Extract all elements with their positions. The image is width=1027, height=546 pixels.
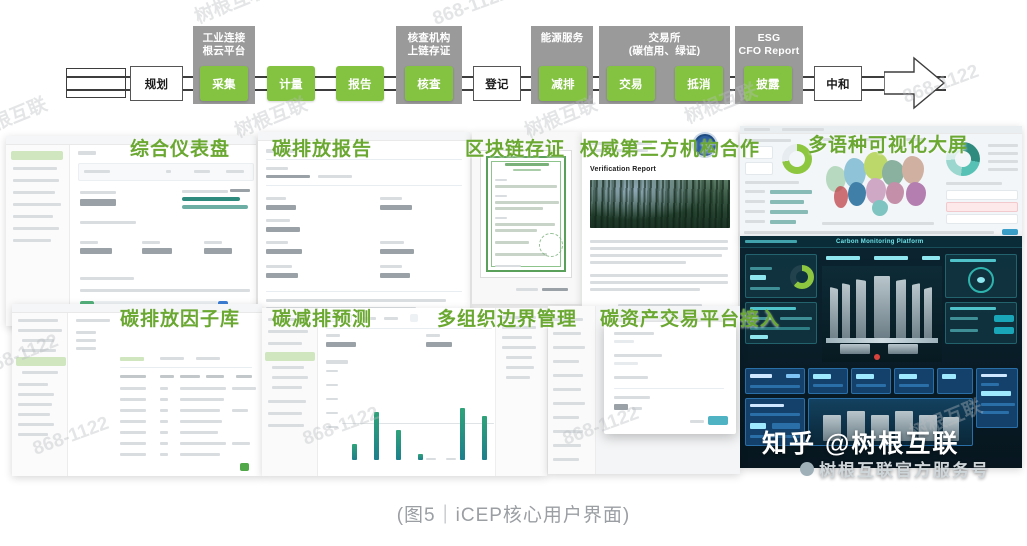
dialog-field-label [614,354,662,357]
sidebar-subitem[interactable] [22,349,56,352]
org-node[interactable] [553,402,585,405]
cap-dashboard: 综合仪表盘 [130,134,230,161]
certificate-subheading [513,169,541,171]
kpi-card [745,162,773,175]
list-label [745,210,765,213]
table-row[interactable] [180,398,224,401]
org-tree-sidebar[interactable] [548,306,596,474]
table-header-cell [206,375,224,378]
table-row[interactable] [180,420,222,423]
sidebar-item-active[interactable] [265,352,315,361]
field-label [266,167,288,170]
list-bar [770,200,804,204]
footer-badge [1002,229,1018,235]
paragraph-line [590,261,686,264]
y-axis-tick [326,426,338,428]
kpi-label [80,191,116,194]
org-node[interactable] [553,430,583,433]
org-node[interactable] [553,332,581,335]
divider [266,185,462,186]
machine-block [840,344,870,354]
paragraph-line [590,288,700,291]
map-region [848,182,866,206]
cap-multi-org: 多组织边界管理 [437,304,577,331]
machine-column [830,287,838,343]
filter-subitem[interactable] [506,366,534,369]
tab-active[interactable] [120,357,144,361]
table-row[interactable] [160,398,168,401]
shot-comprehensive-dashboard[interactable] [6,136,256,326]
confirm-button[interactable] [708,416,728,425]
map-region [872,200,888,216]
sidebar-item[interactable] [18,433,48,436]
table-row[interactable] [120,398,146,401]
sidebar-item[interactable] [18,383,48,386]
machine-column [896,279,906,341]
cap-emission-report: 碳排放报告 [272,134,372,161]
flow-arrow-head [884,56,946,110]
cap-asset-trading: 碳资产交易平台接入 [600,304,780,331]
card-label [856,384,886,387]
card-value [813,374,831,379]
panel-title [950,307,996,310]
alert-row[interactable] [946,190,1018,200]
org-node[interactable] [553,388,581,391]
cert-field-value [495,241,529,244]
shot-multi-org-boundary[interactable] [548,306,740,474]
table-row[interactable] [160,431,168,434]
left-kpi-panel [745,254,817,298]
legend [230,189,250,192]
sidebar-item[interactable] [13,215,53,218]
cap-forecast: 碳减排预测 [272,304,372,331]
cap-blockchain: 区块链存证 [465,134,565,161]
card-row [981,411,1009,414]
bottom-card[interactable] [894,368,934,394]
card-title [750,374,772,378]
table-row[interactable] [160,442,168,445]
field-value [380,273,410,278]
filter-label [166,170,171,173]
stat-value [80,248,112,254]
filter-label [76,331,96,334]
panel-title [950,259,996,262]
figure-caption: (图5｜iCEP核心用户界面) [0,500,1027,527]
breadcrumb [76,319,110,322]
table-row [988,152,1018,155]
field-value [266,175,310,178]
certificate-stamp-icon [539,233,563,257]
cert-field-value [495,229,537,232]
pagination-current[interactable] [240,463,249,471]
band-label: 能源服务 [541,32,584,45]
progress-bar [182,205,248,209]
table-row [988,160,1018,163]
table-header-cell [236,375,252,378]
alert-row-critical[interactable] [946,202,1018,212]
card-row [981,383,999,386]
sidebar-item[interactable] [13,191,55,194]
right-kpi-panel [945,254,1017,298]
org-node[interactable] [553,458,579,461]
forecast-panel [318,308,495,476]
table-row[interactable] [160,420,168,423]
table-row[interactable] [180,387,226,390]
machine-column [856,279,866,341]
filter-label [226,170,244,173]
filter-label [76,339,96,342]
field-label [266,197,286,200]
machine-column [924,287,932,343]
sidebar-item[interactable] [268,424,304,427]
machine-block [888,344,918,354]
field-value [266,205,296,210]
band-label: 核查机构 上链存证 [408,32,451,58]
card-title [750,404,784,407]
section-title [80,221,136,224]
card-value [942,374,956,379]
node-measure[interactable]: 计量 [267,66,315,101]
shot-reduction-forecast[interactable] [262,308,547,476]
paragraph-line [590,274,728,277]
zhihu-service-account: 树根互联官方服务号 [800,456,990,481]
sidebar-item[interactable] [13,203,61,206]
list-label [745,220,765,223]
filter-label [76,347,96,350]
card-title [981,374,1007,377]
bottom-side-card[interactable] [976,368,1018,428]
node-plan[interactable]: 规划 [130,66,183,101]
map-region [906,182,926,206]
table-header-cell [180,375,200,378]
card-row [750,413,800,416]
machine-column [912,283,920,343]
zhihu-service-account-label: 树根互联官方服务号 [819,456,990,481]
flow-arrow-tail [66,68,126,98]
bottom-card[interactable] [808,368,848,394]
table-row[interactable] [232,442,250,445]
center-stat [826,256,860,260]
field-label [380,241,404,244]
paragraph-line [590,281,728,284]
cert-field-value [495,185,557,188]
cert-field-value [495,201,559,204]
card-value [786,374,800,378]
cap-third-party: 权威第三方机构合作 [580,134,760,161]
content-title [78,151,96,155]
factor-table-panel [68,313,262,476]
machine-column [842,283,850,343]
sidebar-item[interactable] [13,227,59,230]
bottom-card[interactable] [937,368,973,394]
sidebar-item[interactable] [18,413,50,416]
org-node[interactable] [553,360,579,363]
stat-value [142,248,172,254]
table-row[interactable] [120,409,146,412]
sidebar-item[interactable] [18,423,54,426]
right-secondary-panel [945,302,1017,344]
bottom-card[interactable] [745,368,805,394]
dialog-field-label [614,396,650,399]
card-row [981,403,1015,406]
table-header-cell [160,375,174,378]
x-axis-line [342,423,494,424]
dialog-field-value [614,362,638,365]
field-value [318,175,352,178]
table-row[interactable] [180,442,226,445]
report-body [258,141,470,328]
cert-field-label [495,179,507,181]
y-axis-tick [326,370,338,372]
alert-row[interactable] [946,214,1018,224]
stat-value [204,248,232,254]
cert-caption [516,288,538,291]
node-reduce[interactable]: 减排 [539,66,587,101]
table-row[interactable] [180,409,220,412]
band-label: 工业连接 根云平台 [203,32,246,58]
table-row[interactable] [160,453,168,456]
sidebar-subitem[interactable] [272,386,302,389]
field-value [266,249,302,254]
sidebar-item[interactable] [268,412,302,415]
status-badge [994,315,1014,322]
filter-item[interactable] [502,346,536,349]
row-value [780,317,812,320]
zhihu-watermark: 知乎 @树根互联 [762,424,959,460]
field-value [266,273,298,278]
center-stat [874,256,908,260]
dialog-unit [632,407,642,410]
table-row[interactable] [232,409,248,412]
dashboard-content [70,145,256,326]
center-stat [922,256,940,260]
filter-item[interactable] [502,336,532,339]
paragraph-line [590,247,728,250]
tab[interactable] [160,357,184,360]
map-region [902,156,924,184]
trading-access-dialog[interactable] [604,322,736,434]
shot-emission-report[interactable] [258,132,470,328]
cancel-button[interactable] [690,420,704,423]
node-offset[interactable]: 抵消 [675,66,723,101]
table-row[interactable] [120,387,146,390]
view-toggle-icon[interactable] [410,314,418,322]
cert-field-label [495,195,507,197]
chart-bar [460,408,465,460]
table-row[interactable] [120,442,146,445]
sidebar-item[interactable] [13,167,57,170]
progress-bar [182,197,240,201]
field-label [380,197,402,200]
chart-bar [418,454,423,460]
certificate-heading [505,163,549,166]
node-collect[interactable]: 采集 [200,66,248,101]
sidebar-item[interactable] [18,319,58,322]
node-trade[interactable]: 交易 [607,66,655,101]
org-node[interactable] [553,346,585,349]
panel-title [946,182,1002,185]
bottom-card[interactable] [851,368,891,394]
machine-tower [874,276,890,338]
table-row[interactable] [160,409,168,412]
band-label: 交易所 (碳信用、绿证) [629,32,701,58]
platform-header: Carbon Monitoring Platform [740,236,1022,248]
sidebar-subitem[interactable] [22,371,58,374]
row-label [950,329,978,332]
kpi-value [750,275,766,280]
app-sidebar[interactable] [262,308,318,476]
list-title [745,181,799,184]
verification-report-title: Verification Report [590,166,656,173]
kpi-label [326,334,340,337]
stat-label [142,241,160,244]
list-bar [770,210,808,214]
table-row[interactable] [120,420,146,423]
forest-photo [590,180,730,228]
sidebar-subitem[interactable] [272,376,308,379]
sidebar-item[interactable] [18,403,52,406]
node-neutral[interactable]: 中和 [814,66,862,101]
x-axis-tick [426,458,436,460]
kpi-value [426,342,452,347]
chart-bar [352,444,357,460]
legend-row [80,289,250,292]
section-title [80,277,134,280]
sidebar-item[interactable] [268,400,306,403]
kpi-label [750,287,780,290]
table-row[interactable] [180,431,218,434]
list-label [745,190,765,193]
wechat-icon [800,462,814,476]
gauge-hole [789,151,805,167]
map-region [886,182,904,204]
org-node[interactable] [553,444,581,447]
divider [120,367,252,368]
org-node[interactable] [553,374,583,377]
node-register[interactable]: 登记 [473,66,521,101]
kpi-label [750,267,772,270]
sidebar-item[interactable] [18,393,54,396]
dialog-field-label [614,376,648,379]
table-row[interactable] [120,431,146,434]
app-sidebar[interactable] [12,313,68,476]
cap-multilang: 多语种可视化大屏 [808,130,968,157]
kpi-value [80,199,116,206]
sidebar-item[interactable] [13,239,51,242]
map-footer-legend [822,222,934,225]
sidebar-item[interactable] [268,342,302,345]
footer-legend [744,231,994,234]
kpi-label [426,334,440,337]
dialog-field-value [614,340,634,343]
table-row[interactable] [120,453,146,456]
card-value [856,374,874,379]
cert-field-value [495,207,543,210]
right-filter-panel[interactable] [495,308,547,476]
divider [614,388,724,389]
table-row[interactable] [180,453,220,456]
platform-title: Carbon Monitoring Platform [836,239,923,245]
filter-label [194,170,210,173]
band-label: ESG CFO Report [739,32,800,58]
dashboard-logo [744,128,770,131]
table-header-cell [120,375,146,378]
filter-label [384,317,398,320]
org-node[interactable] [553,416,579,419]
x-axis-tick [446,458,456,460]
cert-hash [542,288,568,291]
cert-field-value [495,253,547,256]
filter-label [84,170,110,173]
carbon-lifecycle-flow: 工业连接 根云平台 核查机构 上链存证 能源服务 交易所 (碳信用、绿证) ES… [0,4,1027,116]
dialog-overlay [596,306,740,474]
card-label [899,384,929,387]
status-badge [994,327,1014,334]
sidebar-item[interactable] [18,329,62,332]
filter-subitem[interactable] [506,376,530,379]
card-label [813,384,843,387]
certificate-document [480,150,572,278]
sidebar-item-active[interactable] [11,151,63,160]
table-row[interactable] [232,387,256,390]
chart-bar [374,412,379,460]
divider [266,291,462,292]
cert-footer [495,265,521,267]
table-row [988,144,1018,147]
y-axis-tick [326,384,338,386]
field-value [266,227,300,232]
cert-field-label [495,217,507,219]
factory-floor [826,338,938,343]
list-label [745,200,765,203]
kpi-value [326,342,356,347]
chart-bar [396,430,401,460]
dialog-field-label [614,332,654,335]
cap-factor-library: 碳排放因子库 [120,304,240,331]
list-bar [770,190,812,194]
stat-label [204,241,222,244]
app-sidebar[interactable] [6,145,70,326]
field-label [380,265,402,268]
chart-bar [482,416,487,460]
card-bar [750,385,800,388]
dialog-total-value [614,404,628,410]
map-region [834,186,848,208]
node-verify[interactable]: 核查 [405,66,453,101]
card-value [899,374,917,379]
sidebar-item-active[interactable] [16,357,66,366]
table-row[interactable] [160,387,168,390]
node-disclose[interactable]: 披露 [744,66,792,101]
paragraph-line [590,254,722,257]
paragraph-line [590,240,728,243]
field-label [266,241,288,244]
sidebar-item[interactable] [13,179,59,182]
sidebar-subitem[interactable] [272,366,304,369]
field-label [266,265,292,268]
node-report[interactable]: 报告 [336,66,384,101]
sidebar-subitem[interactable] [22,339,54,342]
row-value [750,335,768,339]
field-label [266,219,290,222]
cert-field-value [495,223,555,226]
tab[interactable] [196,357,220,360]
alert-marker-icon[interactable] [874,354,880,360]
platform-breadcrumb [745,240,797,243]
filter-subitem[interactable] [506,356,532,359]
table-row [988,168,1018,171]
factory-3d-visualization[interactable] [822,266,942,362]
